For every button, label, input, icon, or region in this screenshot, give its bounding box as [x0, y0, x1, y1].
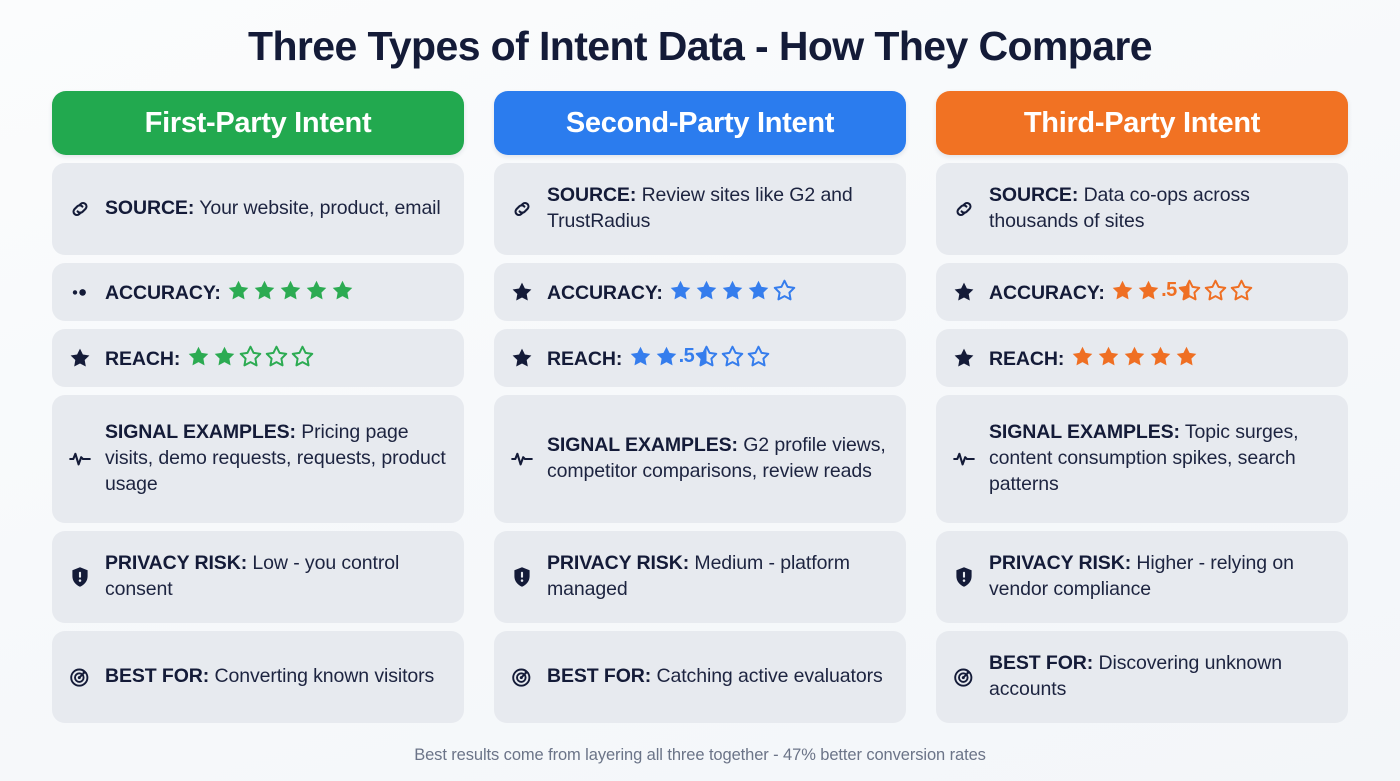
row-label: REACH: [547, 348, 622, 370]
row-signal-second_party: SIGNAL EXAMPLES: G2 profile views, compe… [494, 395, 906, 523]
star-filled-icon [1070, 344, 1095, 369]
row-text: SIGNAL EXAMPLES: Topic surges, content c… [989, 420, 1332, 498]
column-header-first_party[interactable]: First-Party Intent [52, 91, 464, 155]
star-filled-icon [746, 278, 771, 303]
row-label: REACH: [989, 348, 1064, 370]
star-filled-icon [1136, 278, 1161, 303]
star-rating: .5 [1110, 277, 1254, 304]
row-reach-first_party: REACH: [52, 329, 464, 387]
row-label: SIGNAL EXAMPLES: [105, 421, 296, 443]
star-filled-icon [278, 278, 303, 303]
row-source-second_party: SOURCE: Review sites like G2 and TrustRa… [494, 163, 906, 255]
two-dots-icon [67, 279, 93, 305]
star-filled-icon [1148, 344, 1173, 369]
star-icon [509, 279, 535, 305]
row-reach-second_party: REACH: .5 [494, 329, 906, 387]
star-icon [67, 345, 93, 371]
column-first_party: First-Party IntentSOURCE: Your website, … [52, 91, 464, 723]
target-icon [951, 664, 977, 690]
row-label: PRIVACY RISK: [989, 552, 1131, 574]
target-icon [67, 664, 93, 690]
star-filled-icon [1096, 344, 1121, 369]
row-label: SOURCE: [105, 197, 194, 219]
row-accuracy-first_party: ACCURACY: [52, 263, 464, 321]
row-signal-third_party: SIGNAL EXAMPLES: Topic surges, content c… [936, 395, 1348, 523]
row-value: Converting known visitors [215, 665, 435, 687]
row-label: ACCURACY: [547, 282, 663, 304]
row-text: BEST FOR: Catching active evaluators [547, 664, 890, 690]
row-text: REACH: .5 [547, 343, 890, 373]
half-star-label: .5 [1161, 277, 1177, 304]
star-filled-icon [654, 344, 679, 369]
row-value: Your website, product, email [199, 197, 440, 219]
row-signal-first_party: SIGNAL EXAMPLES: Pricing page visits, de… [52, 395, 464, 523]
star-rating [1070, 344, 1199, 369]
row-text: ACCURACY: [105, 278, 448, 307]
row-text: ACCURACY: [547, 278, 890, 307]
row-text: ACCURACY: .5 [989, 277, 1332, 307]
row-label: PRIVACY RISK: [105, 552, 247, 574]
row-text: BEST FOR: Converting known visitors [105, 664, 448, 690]
row-best-for-second_party: BEST FOR: Catching active evaluators [494, 631, 906, 723]
row-label: SOURCE: [989, 184, 1078, 206]
column-third_party: Third-Party IntentSOURCE: Data co-ops ac… [936, 91, 1348, 723]
row-source-first_party: SOURCE: Your website, product, email [52, 163, 464, 255]
footer-note: Best results come from layering all thre… [52, 732, 1348, 781]
column-second_party: Second-Party IntentSOURCE: Review sites … [494, 91, 906, 723]
star-rating [668, 278, 797, 303]
star-filled-icon [1122, 344, 1147, 369]
star-filled-icon [212, 344, 237, 369]
pulse-icon [67, 446, 93, 472]
row-text: SOURCE: Data co-ops across thousands of … [989, 183, 1332, 235]
row-text: SIGNAL EXAMPLES: G2 profile views, compe… [547, 433, 890, 485]
row-text: PRIVACY RISK: Medium - platform managed [547, 551, 890, 603]
star-empty-icon [238, 344, 263, 369]
star-rating [186, 344, 315, 369]
star-filled-icon [694, 278, 719, 303]
row-label: SIGNAL EXAMPLES: [547, 434, 738, 456]
row-reach-third_party: REACH: [936, 329, 1348, 387]
link-icon [509, 196, 535, 222]
row-text: SIGNAL EXAMPLES: Pricing page visits, de… [105, 420, 448, 498]
row-text: PRIVACY RISK: Low - you control consent [105, 551, 448, 603]
row-best-for-first_party: BEST FOR: Converting known visitors [52, 631, 464, 723]
star-empty-icon [290, 344, 315, 369]
row-privacy-second_party: PRIVACY RISK: Medium - platform managed [494, 531, 906, 623]
star-filled-icon [330, 278, 355, 303]
star-filled-icon [668, 278, 693, 303]
page-title: Three Types of Intent Data - How They Co… [52, 0, 1348, 91]
star-rating: .5 [628, 343, 772, 370]
star-empty-icon [1229, 278, 1254, 303]
row-label: REACH: [105, 348, 180, 370]
star-empty-icon [772, 278, 797, 303]
pulse-icon [509, 446, 535, 472]
comparison-board: First-Party IntentSOURCE: Your website, … [52, 91, 1348, 732]
star-filled-icon [252, 278, 277, 303]
star-filled-icon [720, 278, 745, 303]
star-filled-icon [186, 344, 211, 369]
half-star-label: .5 [679, 343, 695, 370]
star-empty-icon [720, 344, 745, 369]
star-filled-icon [226, 278, 251, 303]
star-icon [509, 345, 535, 371]
star-filled-icon [1174, 344, 1199, 369]
row-label: BEST FOR: [105, 665, 209, 687]
star-rating [226, 278, 355, 303]
target-icon [509, 664, 535, 690]
row-text: PRIVACY RISK: Higher - relying on vendor… [989, 551, 1332, 603]
row-label: SIGNAL EXAMPLES: [989, 421, 1180, 443]
row-text: REACH: [105, 344, 448, 373]
star-icon [951, 279, 977, 305]
link-icon [67, 196, 93, 222]
row-label: ACCURACY: [105, 282, 221, 304]
link-icon [951, 196, 977, 222]
row-label: SOURCE: [547, 184, 636, 206]
star-filled-icon [1110, 278, 1135, 303]
star-icon [951, 345, 977, 371]
row-best-for-third_party: BEST FOR: Discovering unknown accounts [936, 631, 1348, 723]
row-accuracy-second_party: ACCURACY: [494, 263, 906, 321]
row-label: ACCURACY: [989, 282, 1105, 304]
row-label: BEST FOR: [989, 652, 1093, 674]
row-text: SOURCE: Your website, product, email [105, 196, 448, 222]
row-privacy-third_party: PRIVACY RISK: Higher - relying on vendor… [936, 531, 1348, 623]
infographic-page: Three Types of Intent Data - How They Co… [0, 0, 1400, 781]
row-accuracy-third_party: ACCURACY: .5 [936, 263, 1348, 321]
star-empty-icon [264, 344, 289, 369]
row-source-third_party: SOURCE: Data co-ops across thousands of … [936, 163, 1348, 255]
star-half-icon [694, 344, 719, 369]
row-privacy-first_party: PRIVACY RISK: Low - you control consent [52, 531, 464, 623]
shield-alert-icon [67, 564, 93, 590]
row-label: PRIVACY RISK: [547, 552, 689, 574]
star-empty-icon [1203, 278, 1228, 303]
pulse-icon [951, 446, 977, 472]
star-filled-icon [628, 344, 653, 369]
row-label: BEST FOR: [547, 665, 651, 687]
shield-alert-icon [509, 564, 535, 590]
star-half-icon [1177, 278, 1202, 303]
row-text: BEST FOR: Discovering unknown accounts [989, 651, 1332, 703]
star-filled-icon [304, 278, 329, 303]
column-header-second_party[interactable]: Second-Party Intent [494, 91, 906, 155]
row-text: REACH: [989, 344, 1332, 373]
star-empty-icon [746, 344, 771, 369]
column-header-third_party[interactable]: Third-Party Intent [936, 91, 1348, 155]
row-text: SOURCE: Review sites like G2 and TrustRa… [547, 183, 890, 235]
shield-alert-icon [951, 564, 977, 590]
row-value: Catching active evaluators [657, 665, 883, 687]
